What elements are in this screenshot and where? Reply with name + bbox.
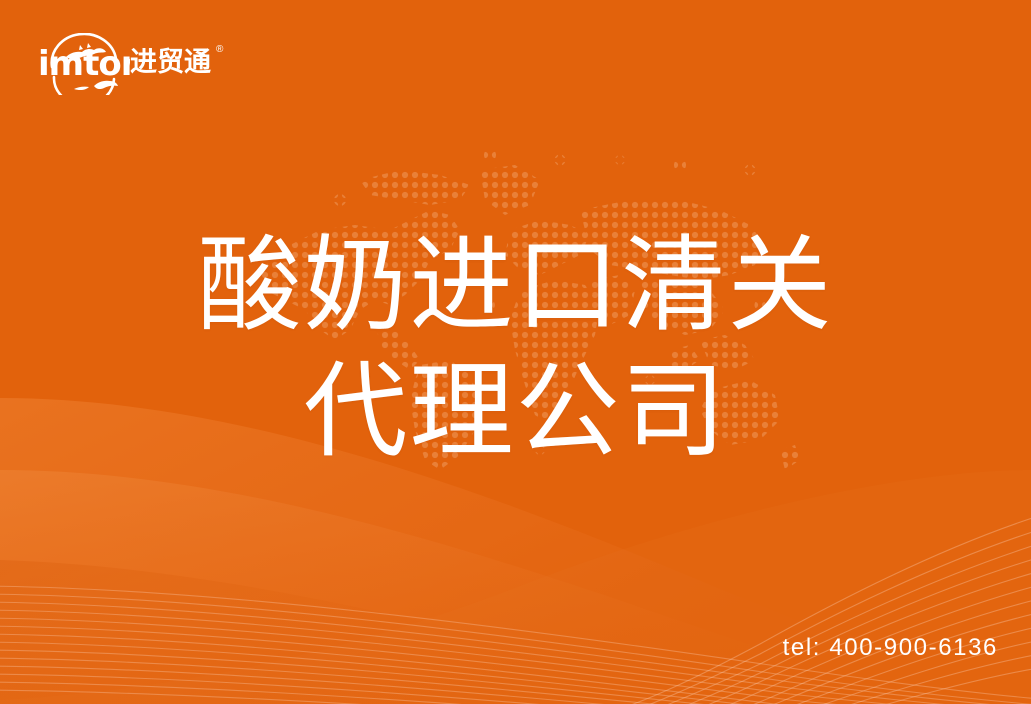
promotional-banner: 进贸通 ® imton 酸奶进口清关 代理公司 tel: 400-900-613…	[0, 0, 1031, 704]
svg-text:imton: imton	[38, 46, 130, 82]
logo-chinese-text: 进贸通	[130, 48, 211, 78]
headline-line-1: 酸奶进口清关	[0, 222, 1031, 348]
registered-trademark-icon: ®	[216, 45, 223, 55]
logo-wordmark: imton	[38, 46, 130, 82]
headline-line-2: 代理公司	[0, 348, 1031, 474]
page-title: 酸奶进口清关 代理公司	[0, 222, 1031, 474]
contact-phone[interactable]: tel: 400-900-6136	[783, 634, 998, 662]
